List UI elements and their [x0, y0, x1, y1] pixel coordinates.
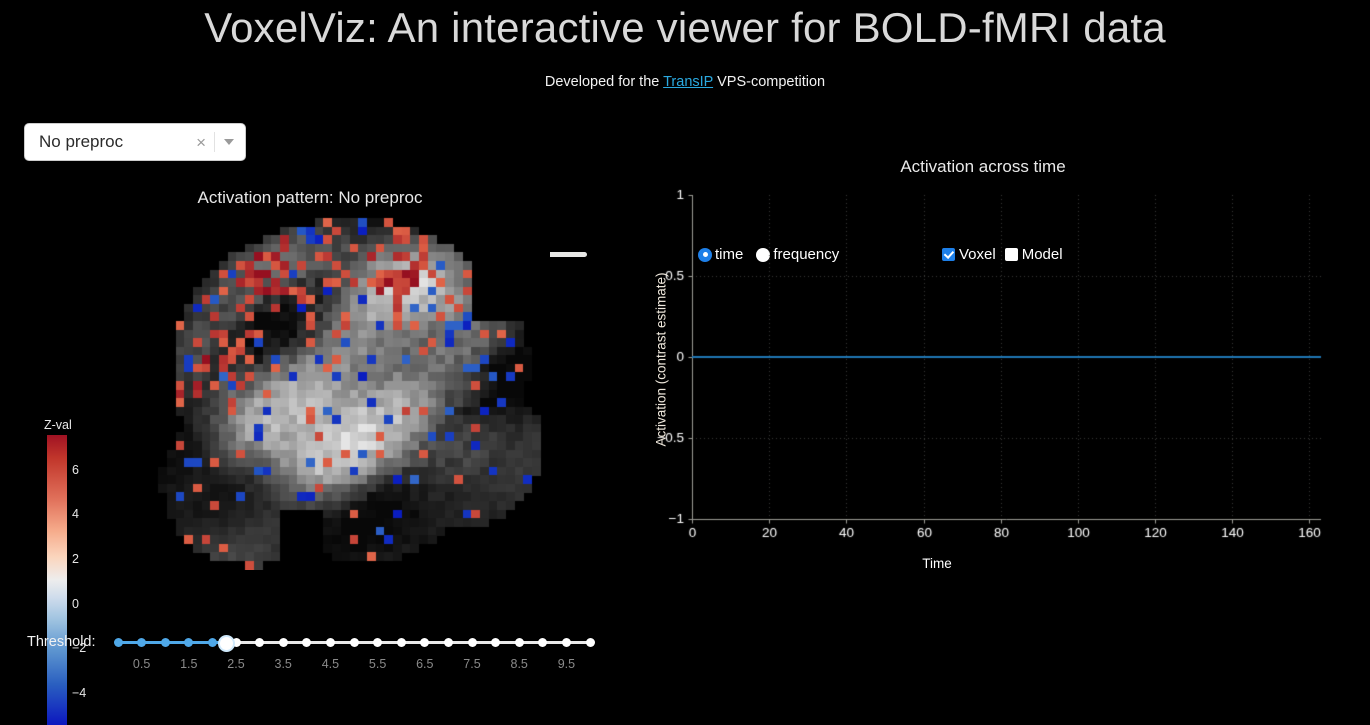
- colorbar-tick: 4: [72, 507, 79, 521]
- threshold-tick-dot[interactable]: [302, 638, 311, 647]
- page-title: VoxelViz: An interactive viewer for BOLD…: [0, 0, 1370, 56]
- subtitle-prefix: Developed for the: [545, 74, 663, 90]
- colorbar-tick: 6: [72, 463, 79, 477]
- clear-icon[interactable]: ×: [188, 134, 214, 151]
- brain-slice-image[interactable]: [150, 210, 550, 570]
- chevron-down-icon[interactable]: [224, 139, 234, 145]
- subtitle-suffix: VPS-competition: [713, 74, 825, 90]
- threshold-mark-label: 9.5: [558, 657, 575, 671]
- threshold-mark-label: 8.5: [510, 657, 527, 671]
- threshold-tick-dot[interactable]: [586, 638, 595, 647]
- activation-chart-panel: Activation across time Activation (contr…: [630, 148, 1370, 588]
- threshold-mark-label: 7.5: [463, 657, 480, 671]
- chart-y-axis-label: Activation (contrast estimate): [654, 220, 669, 500]
- threshold-mark-label: 4.5: [322, 657, 339, 671]
- threshold-tick-dot[interactable]: [562, 638, 571, 647]
- activation-line-chart[interactable]: [630, 178, 1370, 578]
- threshold-tick-dot[interactable]: [161, 638, 170, 647]
- threshold-tick-dot[interactable]: [137, 638, 146, 647]
- threshold-tick-dot[interactable]: [397, 638, 406, 647]
- preproc-dropdown-value: No preproc: [25, 132, 188, 152]
- threshold-slider-handle[interactable]: [218, 635, 235, 652]
- threshold-mark-label: 0.5: [133, 657, 150, 671]
- threshold-tick-dot[interactable]: [350, 638, 359, 647]
- threshold-label: Threshold:: [27, 634, 96, 650]
- threshold-tick-dot[interactable]: [491, 638, 500, 647]
- preproc-dropdown[interactable]: No preproc ×: [24, 123, 246, 161]
- threshold-tick-dot[interactable]: [279, 638, 288, 647]
- threshold-tick-dot[interactable]: [468, 638, 477, 647]
- brain-plot-title: Activation pattern: No preproc: [0, 188, 620, 208]
- threshold-tick-dot[interactable]: [208, 638, 217, 647]
- brain-panel: Activation pattern: No preproc Z-val 642…: [0, 180, 640, 580]
- threshold-tick-dot[interactable]: [444, 638, 453, 647]
- threshold-mark-label: 6.5: [416, 657, 433, 671]
- threshold-tick-dot[interactable]: [326, 638, 335, 647]
- threshold-mark-label: 1.5: [180, 657, 197, 671]
- threshold-row: Threshold: 0.51.52.53.54.55.56.57.58.59.…: [0, 625, 640, 685]
- app-root: VoxelViz: An interactive viewer for BOLD…: [0, 0, 1370, 695]
- colorbar-label: Z-val: [44, 418, 72, 432]
- threshold-mark-label: 2.5: [227, 657, 244, 671]
- colorbar-tick: 0: [72, 597, 79, 611]
- transip-link[interactable]: TransIP: [663, 74, 713, 90]
- threshold-tick-dot[interactable]: [420, 638, 429, 647]
- threshold-tick-dot[interactable]: [538, 638, 547, 647]
- threshold-mark-label: 3.5: [274, 657, 291, 671]
- threshold-tick-dot[interactable]: [373, 638, 382, 647]
- colorbar-tick: −4: [72, 686, 86, 700]
- threshold-slider[interactable]: 0.51.52.53.54.55.56.57.58.59.5: [118, 633, 590, 653]
- threshold-tick-dot[interactable]: [255, 638, 264, 647]
- page-subtitle: Developed for the TransIP VPS-competitio…: [0, 74, 1370, 90]
- divider: [214, 132, 215, 152]
- chart-title: Activation across time: [630, 157, 1336, 177]
- threshold-tick-dot[interactable]: [114, 638, 123, 647]
- colorbar-tick: 2: [72, 552, 79, 566]
- chart-x-axis-label: Time: [862, 556, 1012, 571]
- threshold-tick-dot[interactable]: [184, 638, 193, 647]
- threshold-tick-dot[interactable]: [515, 638, 524, 647]
- threshold-mark-label: 5.5: [369, 657, 386, 671]
